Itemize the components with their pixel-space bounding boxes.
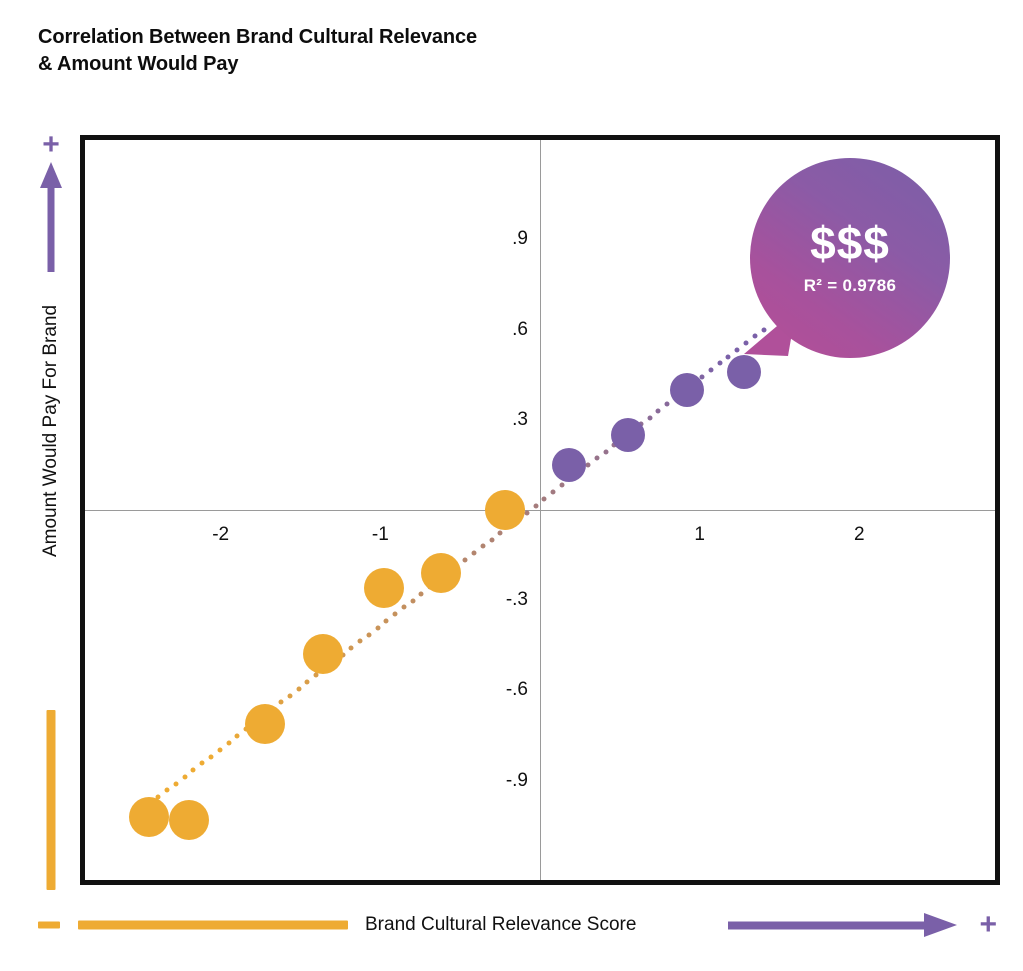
trendline-dot bbox=[182, 774, 187, 779]
trendline-dot bbox=[542, 496, 547, 501]
trendline-dot bbox=[665, 402, 670, 407]
arrow-up-icon bbox=[39, 162, 63, 272]
trendline-dot bbox=[349, 646, 354, 651]
trendline-dot bbox=[305, 680, 310, 685]
trendline-dot bbox=[393, 612, 398, 617]
scatter-point[interactable] bbox=[727, 355, 761, 389]
trendline-dot bbox=[419, 591, 424, 596]
scatter-point[interactable] bbox=[364, 568, 404, 608]
trendline-dot bbox=[586, 463, 591, 468]
trendline-dot bbox=[472, 551, 477, 556]
scatter-point[interactable] bbox=[129, 797, 169, 837]
trendline-dot bbox=[287, 693, 292, 698]
trendline-dot bbox=[463, 557, 468, 562]
r-squared-callout: $$$ R² = 0.9786 bbox=[750, 158, 950, 358]
x-axis-plus-sign: + bbox=[979, 910, 997, 940]
trendline-dot bbox=[647, 415, 652, 420]
arrow-right-icon bbox=[728, 912, 958, 938]
y-axis-negative-bar bbox=[47, 710, 56, 890]
trendline-dot bbox=[498, 530, 503, 535]
trendline-dot bbox=[279, 700, 284, 705]
x-axis-negative-bar bbox=[78, 921, 348, 930]
scatter-point[interactable] bbox=[169, 800, 209, 840]
trendline-dot bbox=[165, 788, 170, 793]
x-axis-label: Brand Cultural Relevance Score bbox=[365, 914, 636, 936]
trendline-dot bbox=[200, 761, 205, 766]
y-tick-label: .6 bbox=[484, 319, 528, 341]
y-axis-plus-sign: + bbox=[42, 130, 60, 160]
trendline-dot bbox=[708, 368, 713, 373]
trendline-dot bbox=[366, 632, 371, 637]
x-axis-minus-sign bbox=[38, 922, 60, 929]
trendline-dot bbox=[551, 490, 556, 495]
trendline-dot bbox=[717, 361, 722, 366]
trendline-dot bbox=[209, 754, 214, 759]
y-tick-label: -.9 bbox=[484, 770, 528, 792]
scatter-point[interactable] bbox=[670, 373, 704, 407]
trendline-dot bbox=[524, 510, 529, 515]
y-tick-label: .3 bbox=[484, 409, 528, 431]
trendline-dot bbox=[375, 625, 380, 630]
scatter-point[interactable] bbox=[552, 448, 586, 482]
scatter-point[interactable] bbox=[421, 553, 461, 593]
trendline-dot bbox=[480, 544, 485, 549]
scatter-point[interactable] bbox=[245, 704, 285, 744]
trendline-dot bbox=[191, 768, 196, 773]
trendline-dot bbox=[401, 605, 406, 610]
trendline-dot bbox=[533, 503, 538, 508]
trendline-dot bbox=[410, 598, 415, 603]
y-tick-label: -.3 bbox=[484, 589, 528, 611]
trendline-dot bbox=[217, 747, 222, 752]
scatter-point[interactable] bbox=[303, 634, 343, 674]
trendline-dot bbox=[296, 686, 301, 691]
page-title: Correlation Between Brand Cultural Relev… bbox=[38, 24, 658, 78]
trendline-dot bbox=[726, 354, 731, 359]
trendline-dot bbox=[173, 781, 178, 786]
x-axis-legend: Brand Cultural Relevance Score + bbox=[0, 905, 1023, 945]
y-tick-label: -.6 bbox=[484, 679, 528, 701]
y-axis-label: Amount Would Pay For Brand bbox=[40, 305, 62, 557]
scatter-point[interactable] bbox=[485, 490, 525, 530]
trendline-dot bbox=[594, 456, 599, 461]
trendline-dot bbox=[559, 483, 564, 488]
y-axis-line bbox=[540, 140, 541, 880]
trendline-dot bbox=[358, 639, 363, 644]
x-tick-label: -1 bbox=[372, 524, 389, 546]
trendline-dot bbox=[384, 619, 389, 624]
scatter-point[interactable] bbox=[611, 418, 645, 452]
trendline-dot bbox=[656, 408, 661, 413]
x-tick-label: -2 bbox=[212, 524, 229, 546]
trendline-dot bbox=[235, 734, 240, 739]
x-tick-label: 1 bbox=[694, 524, 705, 546]
trendline-dot bbox=[603, 449, 608, 454]
y-axis-legend: + Amount Would Pay For Brand bbox=[28, 130, 74, 890]
trendline-dot bbox=[226, 741, 231, 746]
trendline-dot bbox=[489, 537, 494, 542]
x-tick-label: 2 bbox=[854, 524, 865, 546]
callout-bubble: $$$ R² = 0.9786 bbox=[750, 158, 950, 358]
r-squared-label: R² = 0.9786 bbox=[804, 276, 897, 296]
y-tick-label: .9 bbox=[484, 228, 528, 250]
dollars-label: $$$ bbox=[810, 220, 890, 266]
